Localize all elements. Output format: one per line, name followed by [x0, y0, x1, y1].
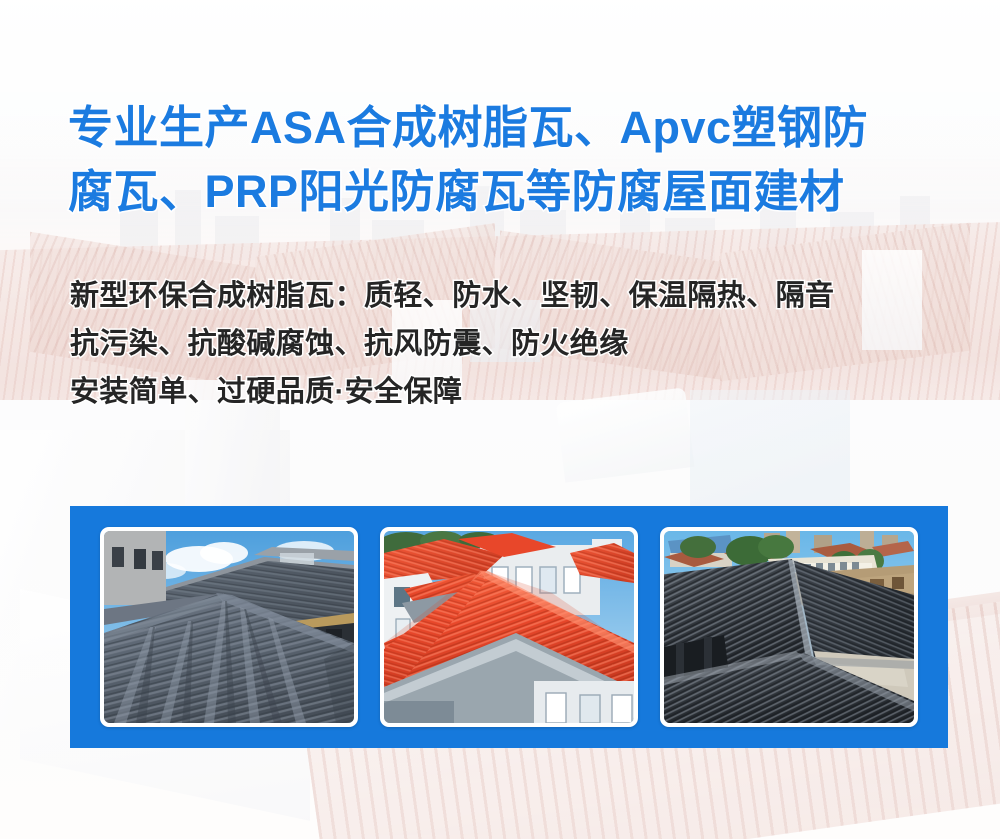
- photo-frame-2[interactable]: [380, 527, 638, 727]
- headline-line-2: 腐瓦、PRP阳光防腐瓦等防腐屋面建材: [68, 160, 958, 224]
- gray-resin-tile-roof-photo[interactable]: [104, 531, 354, 723]
- photo-frame-3[interactable]: [660, 527, 918, 727]
- red-resin-tile-roof-photo[interactable]: [384, 531, 634, 723]
- feature-text: 新型环保合成树脂瓦：质轻、防水、坚韧、保温隔热、隔音 抗污染、抗酸碱腐蚀、抗风防…: [70, 272, 970, 416]
- gallery-photo-row: [70, 506, 948, 748]
- gallery-panel: [70, 506, 948, 748]
- feature-line-2: 抗污染、抗酸碱腐蚀、抗风防震、防火绝缘: [70, 320, 970, 368]
- headline: 专业生产ASA合成树脂瓦、Apvc塑钢防 腐瓦、PRP阳光防腐瓦等防腐屋面建材: [68, 96, 958, 224]
- photo-frame-1[interactable]: [100, 527, 358, 727]
- headline-line-1: 专业生产ASA合成树脂瓦、Apvc塑钢防: [68, 96, 958, 160]
- feature-line-3: 安装简单、过硬品质·安全保障: [70, 368, 970, 416]
- black-resin-tile-roof-photo[interactable]: [664, 531, 914, 723]
- banner-stage: 专业生产ASA合成树脂瓦、Apvc塑钢防 腐瓦、PRP阳光防腐瓦等防腐屋面建材 …: [0, 0, 1000, 839]
- feature-line-1: 新型环保合成树脂瓦：质轻、防水、坚韧、保温隔热、隔音: [70, 272, 970, 320]
